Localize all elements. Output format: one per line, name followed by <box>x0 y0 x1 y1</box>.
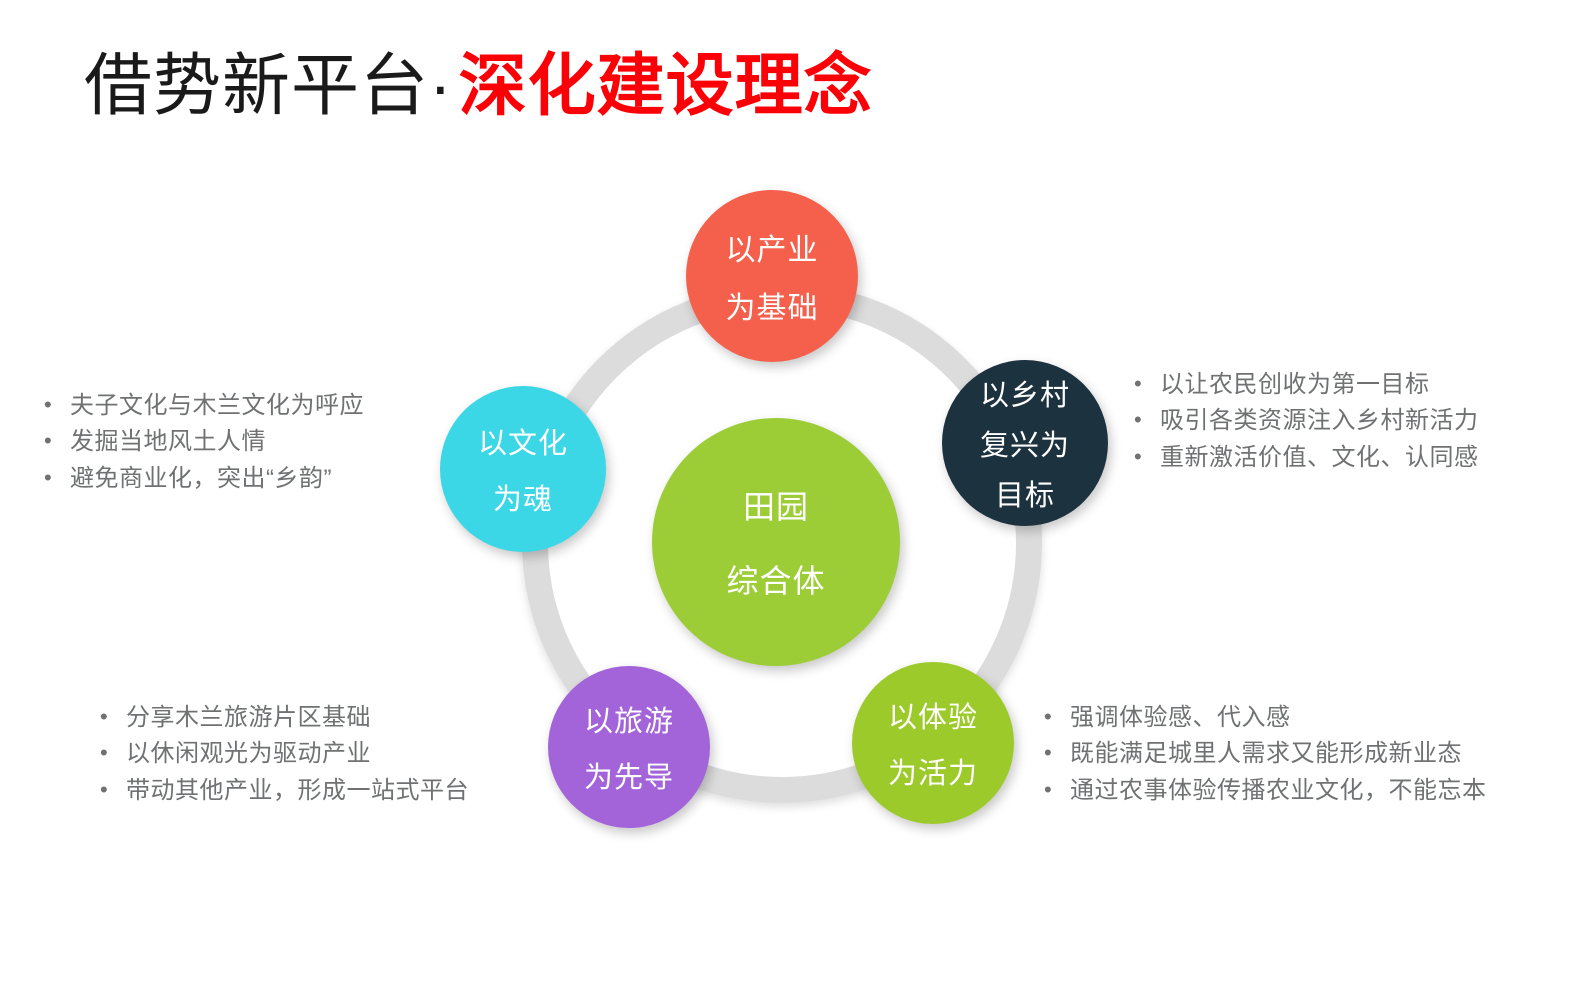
bullet-dot-icon: • <box>100 700 126 733</box>
experience-node[interactable]: 以体验 为活力 <box>852 662 1014 824</box>
industry-node-line-1: 以产业 <box>726 225 819 269</box>
list-item: • 强调体验感、代入感 <box>1044 700 1487 736</box>
list-item-label: 以休闲观光为驱动产业 <box>126 736 371 772</box>
list-item-label: 既能满足城里人需求又能形成新业态 <box>1070 736 1462 772</box>
bullet-dot-icon: • <box>100 773 126 806</box>
list-item: • 带动其他产业，形成一站式平台 <box>100 773 469 809</box>
list-item-label: 夫子文化与木兰文化为呼应 <box>70 388 364 424</box>
list-item: • 通过农事体验传播农业文化，不能忘本 <box>1044 773 1487 809</box>
list-item: • 发掘当地风土人情 <box>44 424 364 460</box>
experience-bullet-list: • 强调体验感、代入感 • 既能满足城里人需求又能形成新业态 • 通过农事体验传… <box>1044 700 1487 809</box>
list-item-label: 强调体验感、代入感 <box>1070 700 1291 736</box>
list-item-label: 以让农民创收为第一目标 <box>1160 367 1430 403</box>
list-item-label: 发掘当地风土人情 <box>70 424 266 460</box>
village-bullet-list: • 以让农民创收为第一目标 • 吸引各类资源注入乡村新活力 • 重新激活价值、文… <box>1134 367 1479 476</box>
village-node-line-3: 目标 <box>995 472 1055 514</box>
bullet-dot-icon: • <box>1044 736 1070 769</box>
culture-bullet-list: • 夫子文化与木兰文化为呼应 • 发掘当地风土人情 • 避免商业化，突出“乡韵” <box>44 388 364 497</box>
list-item-label: 分享木兰旅游片区基础 <box>126 700 371 736</box>
bullet-dot-icon: • <box>1134 367 1160 400</box>
bullet-dot-icon: • <box>44 388 70 421</box>
list-item: • 夫子文化与木兰文化为呼应 <box>44 388 364 424</box>
bullet-dot-icon: • <box>1134 403 1160 436</box>
bullet-dot-icon: • <box>44 461 70 494</box>
bullet-dot-icon: • <box>44 424 70 457</box>
tourism-bullet-list: • 分享木兰旅游片区基础 • 以休闲观光为驱动产业 • 带动其他产业，形成一站式… <box>100 700 469 809</box>
list-item-label: 重新激活价值、文化、认同感 <box>1160 440 1479 476</box>
center-node-line-1: 田园 <box>743 482 809 528</box>
industry-node[interactable]: 以产业 为基础 <box>686 190 858 362</box>
center-node[interactable]: 田园 综合体 <box>652 418 900 666</box>
list-item-label: 避免商业化，突出“乡韵” <box>70 461 332 497</box>
bullet-dot-icon: • <box>1044 773 1070 806</box>
experience-node-line-2: 为活力 <box>888 750 978 792</box>
list-item-label: 带动其他产业，形成一站式平台 <box>126 773 469 809</box>
list-item: • 既能满足城里人需求又能形成新业态 <box>1044 736 1487 772</box>
bullet-dot-icon: • <box>1044 700 1070 733</box>
bullet-dot-icon: • <box>100 736 126 769</box>
industry-node-line-2: 为基础 <box>726 283 819 327</box>
list-item: • 以让农民创收为第一目标 <box>1134 367 1479 403</box>
tourism-node[interactable]: 以旅游 为先导 <box>548 666 710 828</box>
village-node-line-2: 复兴为 <box>980 422 1070 464</box>
tourism-node-line-1: 以旅游 <box>584 698 674 740</box>
tourism-node-line-2: 为先导 <box>584 754 674 796</box>
culture-node[interactable]: 以文化 为魂 <box>440 386 606 552</box>
village-node[interactable]: 以乡村 复兴为 目标 <box>942 360 1108 526</box>
list-item-label: 吸引各类资源注入乡村新活力 <box>1160 403 1479 439</box>
list-item: • 避免商业化，突出“乡韵” <box>44 461 364 497</box>
center-node-line-2: 综合体 <box>726 556 825 602</box>
list-item: • 以休闲观光为驱动产业 <box>100 736 469 772</box>
village-node-line-1: 以乡村 <box>980 372 1070 414</box>
slide-canvas: 借势新平台·深化建设理念 田园 综合体 以产业 为基础 以乡村 复兴为 目标 以… <box>0 0 1586 982</box>
culture-node-line-2: 为魂 <box>493 476 553 518</box>
list-item: • 重新激活价值、文化、认同感 <box>1134 440 1479 476</box>
experience-node-line-1: 以体验 <box>888 694 978 736</box>
list-item: • 吸引各类资源注入乡村新活力 <box>1134 403 1479 439</box>
list-item-label: 通过农事体验传播农业文化，不能忘本 <box>1070 773 1487 809</box>
list-item: • 分享木兰旅游片区基础 <box>100 700 469 736</box>
bullet-dot-icon: • <box>1134 440 1160 473</box>
culture-node-line-1: 以文化 <box>478 420 568 462</box>
